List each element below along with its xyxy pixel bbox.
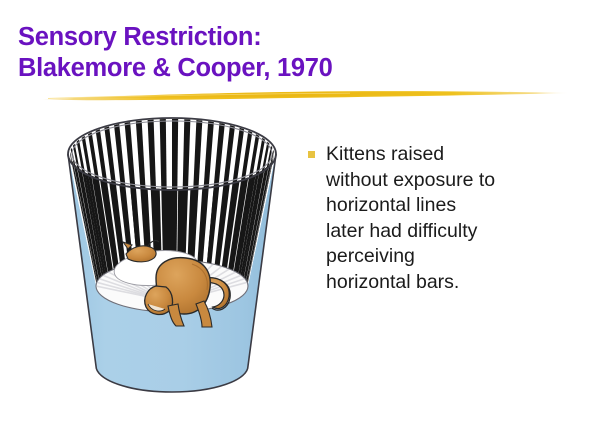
page-title: Sensory Restriction: Blakemore & Cooper,… [18, 22, 488, 84]
title-underline-brush [40, 88, 570, 104]
title-line-2: Blakemore & Cooper, 1970 [18, 53, 488, 84]
title-line-1: Sensory Restriction: [18, 22, 488, 53]
striped-drum-illustration [52, 108, 292, 413]
slide-canvas: Sensory Restriction: Blakemore & Cooper,… [0, 0, 600, 446]
list-item: Kittens raised without exposure to horiz… [308, 142, 578, 296]
square-bullet-icon [308, 151, 315, 158]
bullet-text: Kittens raised without exposure to horiz… [326, 142, 495, 296]
